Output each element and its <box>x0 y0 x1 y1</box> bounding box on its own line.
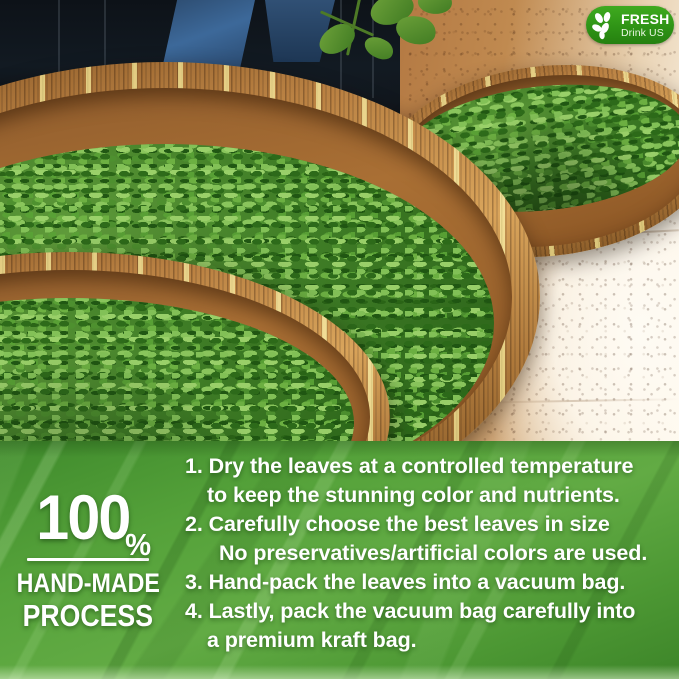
step-line: 3. Hand-pack the leaves into a vacuum ba… <box>185 568 671 597</box>
step-line: to keep the stunning color and nutrients… <box>185 481 671 510</box>
logo-primary-text: FRESH <box>621 12 669 26</box>
chopped-green-leaves <box>0 298 354 441</box>
hand-made-badge: 100% HAND-MADE PROCESS <box>0 441 176 679</box>
step-line: 1. Dry the leaves at a controlled temper… <box>185 452 671 481</box>
percent-figure: 100% <box>37 487 140 550</box>
step-line: 4. Lastly, pack the vacuum bag carefully… <box>185 597 671 626</box>
product-infographic: FRESH Drink US 100% HAND-MADE PROCESS 1.… <box>0 0 679 679</box>
badge-subtitle-line1: HAND-MADE <box>16 569 159 597</box>
percent-symbol: % <box>126 529 151 560</box>
step-line: a premium kraft bag. <box>185 626 671 655</box>
percent-number: 100 <box>37 483 130 553</box>
brand-logo[interactable]: FRESH Drink US <box>586 6 674 44</box>
bamboo-tray-bottom <box>0 252 390 441</box>
step-line: No preservatives/artificial colors are u… <box>185 539 671 568</box>
leaf-cluster-icon <box>590 10 620 40</box>
product-photo: FRESH Drink US <box>0 0 679 441</box>
step-line: 2. Carefully choose the best leaves in s… <box>185 510 671 539</box>
process-steps-list: 1. Dry the leaves at a controlled temper… <box>176 441 679 679</box>
badge-subtitle-line2: PROCESS <box>23 600 153 633</box>
logo-secondary-text: Drink US <box>621 28 669 39</box>
